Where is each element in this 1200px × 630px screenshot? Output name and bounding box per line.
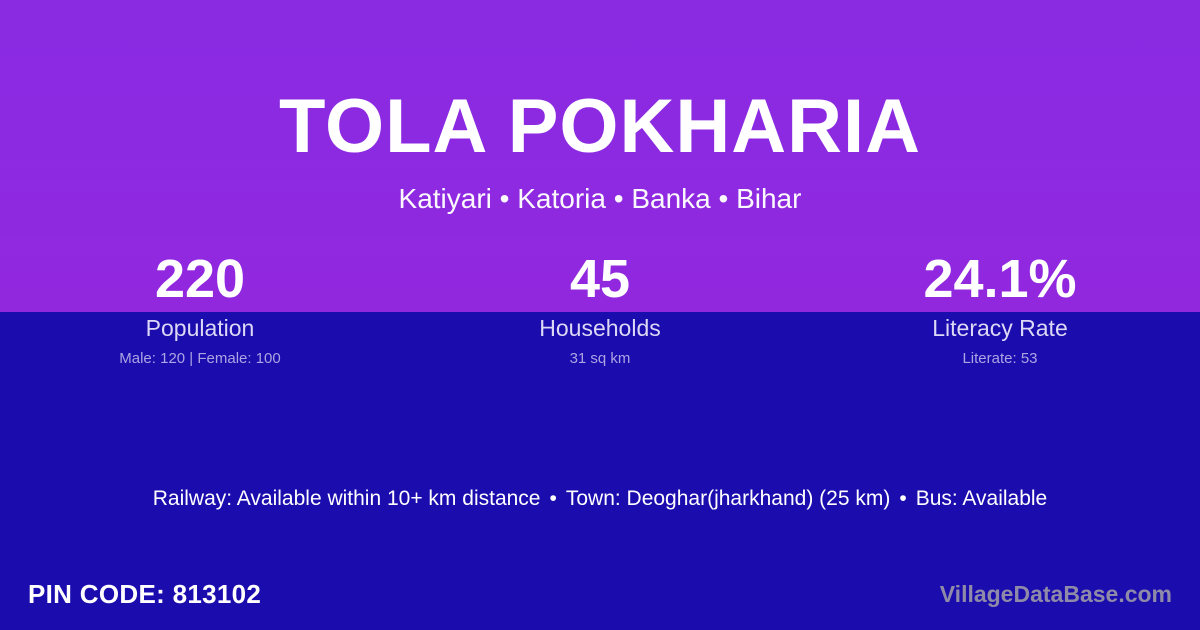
stat-value: 24.1% xyxy=(800,246,1200,312)
stat-subtext: Literate: 53 xyxy=(800,349,1200,369)
breadcrumb-location: Katiyari • Katoria • Banka • Bihar xyxy=(0,181,1200,217)
stat-subtext: 31 sq km xyxy=(400,349,800,369)
footer: PIN CODE: 813102 VillageDataBase.com xyxy=(0,558,1200,630)
amenity-separator: • xyxy=(540,485,565,513)
amenity-railway: Railway: Available within 10+ km distanc… xyxy=(153,487,541,510)
page-title: TOLA POKHARIA xyxy=(0,84,1200,170)
stat-households: 45 Households 31 sq km xyxy=(400,246,800,369)
amenity-separator: • xyxy=(890,485,915,513)
stat-label: Households xyxy=(400,313,800,343)
village-info-card: TOLA POKHARIA Katiyari • Katoria • Banka… xyxy=(0,0,1200,630)
stat-population: 220 Population Male: 120 | Female: 100 xyxy=(0,246,400,369)
site-branding: VillageDataBase.com xyxy=(940,579,1172,609)
pin-code: PIN CODE: 813102 xyxy=(28,578,261,610)
stat-label: Literacy Rate xyxy=(800,313,1200,343)
amenities-line: Railway: Available within 10+ km distanc… xyxy=(0,485,1200,513)
stats-row: 220 Population Male: 120 | Female: 100 4… xyxy=(0,246,1200,369)
stat-label: Population xyxy=(0,313,400,343)
stat-value: 45 xyxy=(400,246,800,312)
stat-literacy-rate: 24.1% Literacy Rate Literate: 53 xyxy=(800,246,1200,369)
amenity-bus: Bus: Available xyxy=(916,487,1048,510)
stat-subtext: Male: 120 | Female: 100 xyxy=(0,349,400,369)
amenity-town: Town: Deoghar(jharkhand) (25 km) xyxy=(566,487,890,510)
stat-value: 220 xyxy=(0,246,400,312)
